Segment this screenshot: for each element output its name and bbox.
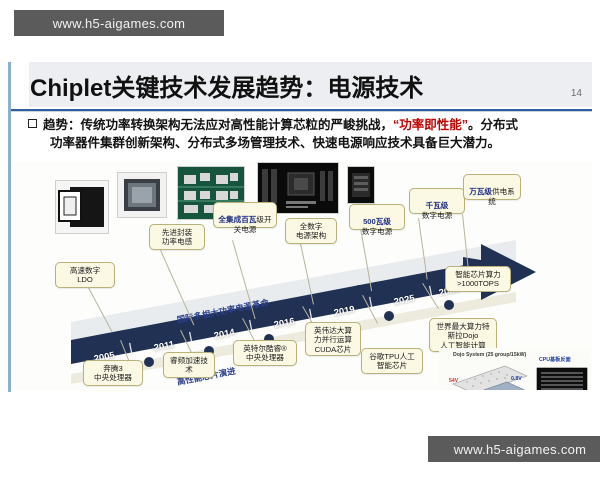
callout-inductor[interactable]: 先进封装 功率电感 — [149, 224, 205, 250]
photo-ldo-die — [55, 180, 109, 234]
watermark-top-text: www.h5-aigames.com — [53, 16, 186, 31]
watermark-top: www.h5-aigames.com — [14, 10, 224, 36]
callout-ldo[interactable]: 高速数字 LDO — [55, 262, 115, 288]
slide-canvas: www.h5-aigames.com Chiplet关键技术发展趋势：电源技术 … — [0, 0, 600, 480]
bullet-text-highlight: “功率即性能” — [393, 118, 468, 132]
dojo-figure: Dojo System (25 group/15kW) CPU基板反面 54V … — [439, 348, 591, 390]
photo-ldo-die-art — [56, 181, 108, 233]
cpu-back-label: CPU基板反面 — [539, 356, 571, 363]
callout-500w-navy: 500瓦级 — [363, 217, 391, 226]
bullet-text-b: 。分布式 — [468, 118, 518, 132]
callout-tesla-dojo[interactable]: 世界最大算力特 斯拉Dojo 人工智能计算 — [429, 318, 497, 352]
photo-inductor-art — [118, 173, 166, 217]
callout-500w[interactable]: 500瓦级数字电源 — [349, 204, 405, 230]
watermark-bottom-text: www.h5-aigames.com — [454, 442, 587, 457]
callout-500w-rest: 数字电源 — [362, 227, 392, 236]
callout-tops[interactable]: 智能芯片算力 >1000TOPS — [445, 266, 511, 292]
title-underline-soft — [11, 111, 592, 112]
callout-all-digital[interactable]: 全数字 电源架构 — [285, 218, 337, 244]
title-band-notch — [11, 62, 29, 107]
callout-10kw-navy: 万瓦级 — [469, 187, 492, 196]
square-bullet-icon — [28, 119, 37, 128]
v54-label: 54V — [449, 378, 458, 384]
v08-label: 0.8V — [511, 376, 522, 382]
bullet-line-1: 趋势：传统功率转换架构无法应对高性能计算芯粒的严峻挑战，“功率即性能”。分布式 — [28, 116, 584, 134]
slide: Chiplet关键技术发展趋势：电源技术 14 趋势：传统功率转换架构无法应对高… — [8, 62, 592, 392]
watermark-bottom: www.h5-aigames.com — [428, 436, 600, 462]
timeline-diagram: 国际多相大功率电源革命 高性能芯片演进 2005 2011 2014 2016 … — [11, 162, 592, 390]
callout-google-tpu[interactable]: 谷歌TPU人工 智能芯片 — [361, 348, 423, 374]
callout-kw-rest: 数字电源 — [422, 211, 452, 220]
page-number: 14 — [571, 88, 582, 99]
callout-switch-100w-navy: 全集成百瓦 — [218, 215, 256, 224]
photo-chip-closeup-art — [348, 167, 374, 203]
callout-pentium3[interactable]: 奔腾3 中央处理器 — [83, 360, 143, 386]
callout-intel-core[interactable]: 英特尔酷睿® 中央处理器 — [233, 340, 297, 366]
callout-switch-100w[interactable]: 全集成百瓦级开关电源 — [213, 202, 277, 228]
dojo-system-label: Dojo System (25 group/15kW) — [453, 352, 526, 358]
bullet-text-a: 趋势：传统功率转换架构无法应对高性能计算芯粒的严峻挑战， — [43, 118, 393, 132]
callout-10kw[interactable]: 万瓦级供电系统 — [463, 174, 521, 200]
callout-cuda[interactable]: 英伟达大算 力并行运算 CUDA芯片 — [305, 322, 361, 356]
callout-turbo-boost[interactable]: 睿频加速技 术 — [163, 352, 215, 378]
bullet-block: 趋势：传统功率转换架构无法应对高性能计算芯粒的严峻挑战，“功率即性能”。分布式 … — [28, 116, 584, 152]
callout-kw[interactable]: 千瓦级数字电源 — [409, 188, 465, 214]
photo-inductor-package — [117, 172, 167, 218]
page-title: Chiplet关键技术发展趋势：电源技术 — [30, 68, 423, 103]
bullet-line-2: 功率器件集群创新架构、分布式多场管理技术、快速电源响应技术具备巨大潜力。 — [28, 134, 584, 152]
photo-chip-closeup — [347, 166, 375, 204]
callout-kw-navy: 千瓦级 — [426, 201, 449, 210]
